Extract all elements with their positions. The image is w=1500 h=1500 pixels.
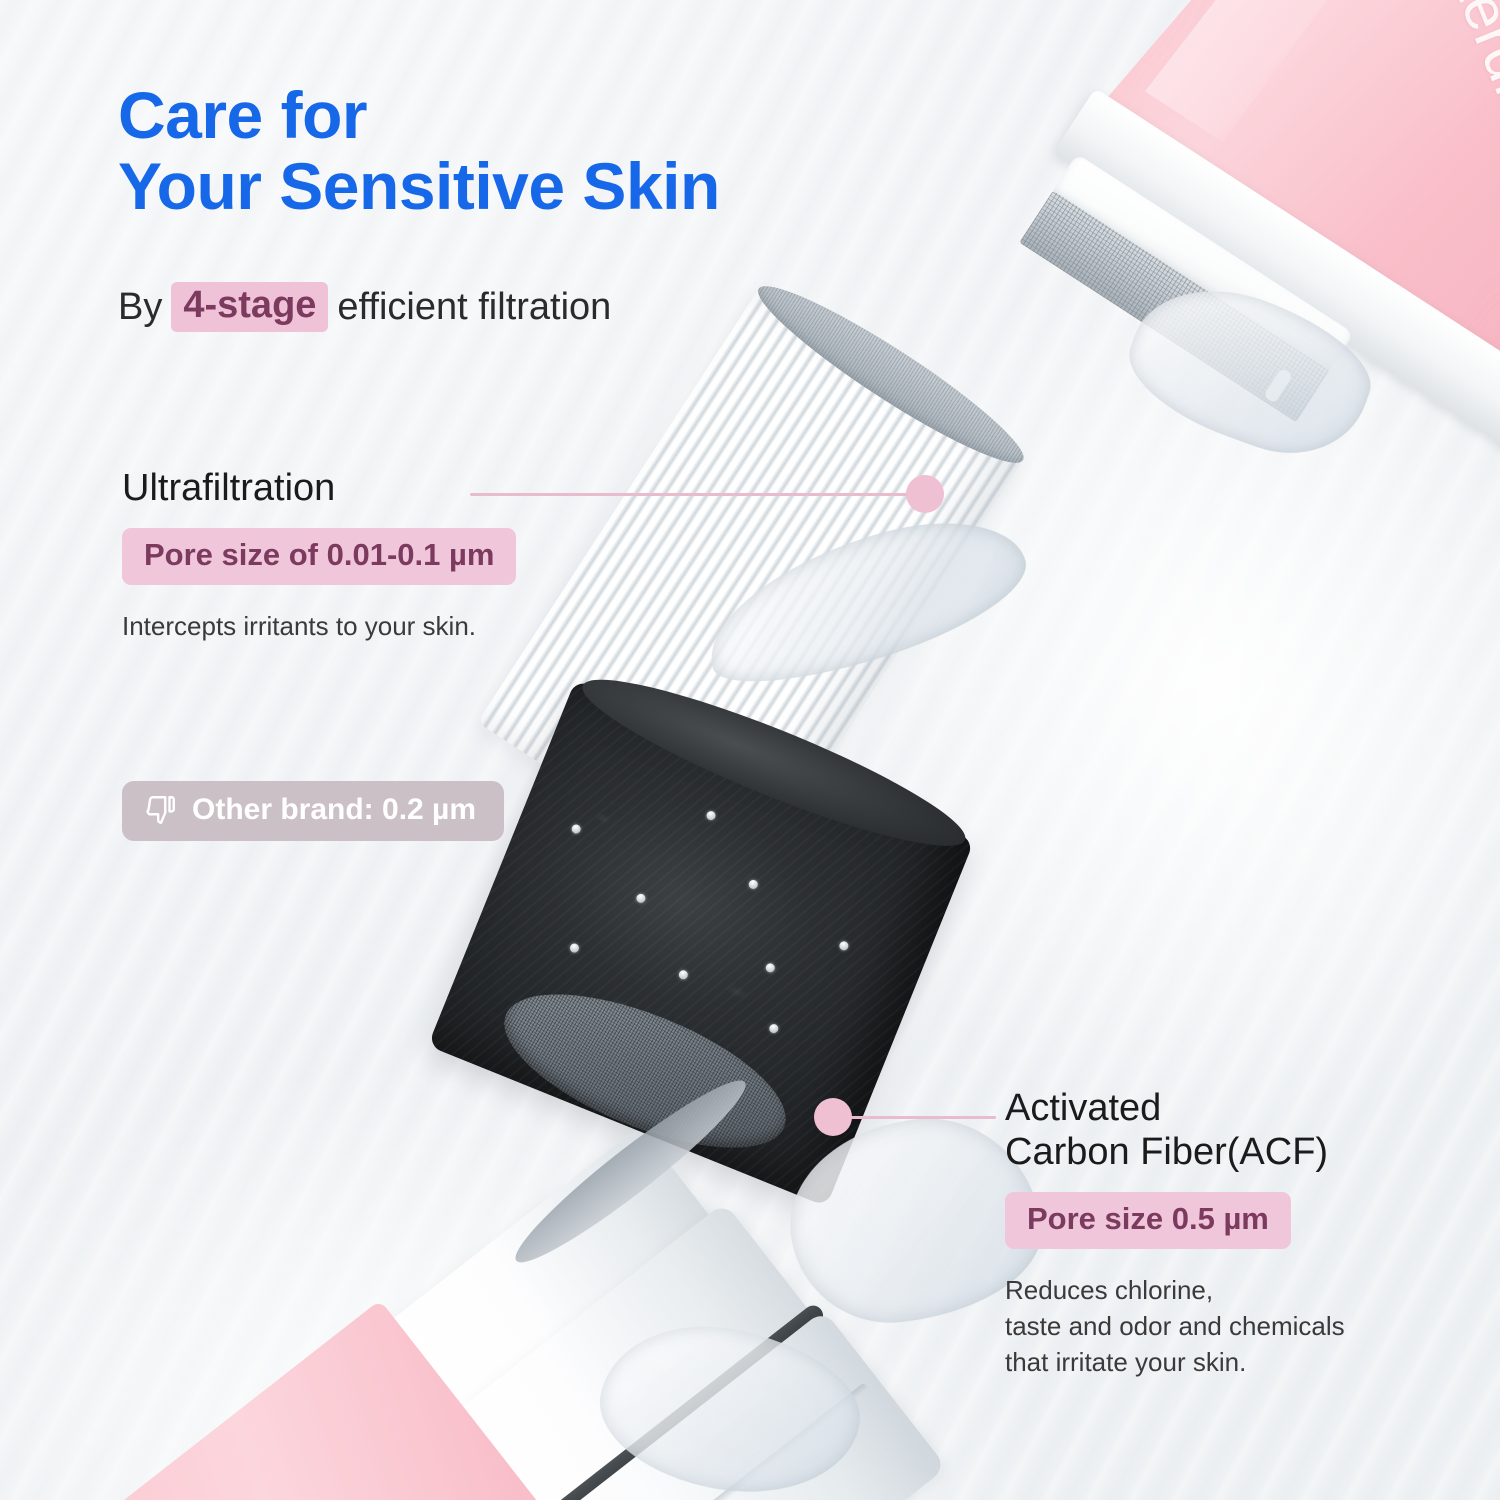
thumbs-down-icon	[144, 793, 178, 827]
page-subtitle: By 4-stage efficient filtration	[118, 282, 611, 332]
subtitle-prefix: By	[118, 286, 162, 329]
callout-activated-carbon-fiber: Activated Carbon Fiber(ACF) Pore size 0.…	[1005, 1086, 1465, 1381]
connector-dot-acf	[814, 1098, 852, 1136]
callout-description-ultrafiltration: Intercepts irritants to your skin.	[122, 609, 742, 645]
connector-dot-ultrafiltration	[906, 475, 944, 513]
badge-pore-size-ultrafiltration: Pore size of 0.01-0.1 µm	[122, 528, 516, 585]
infographic-page: Waterdrp	[0, 0, 1500, 1500]
subtitle-suffix: efficient filtration	[337, 286, 611, 329]
callout-description-acf: Reduces chlorine, taste and odor and che…	[1005, 1273, 1465, 1381]
badge-pore-size-acf: Pore size 0.5 µm	[1005, 1192, 1291, 1249]
subtitle-highlight: 4-stage	[171, 282, 328, 332]
callout-title-acf: Activated Carbon Fiber(ACF)	[1005, 1086, 1465, 1174]
badge-other-brand-label: Other brand: 0.2 µm	[192, 793, 476, 827]
page-title: Care for Your Sensitive Skin	[118, 80, 720, 223]
callout-ultrafiltration: Ultrafiltration Pore size of 0.01-0.1 µm…	[122, 466, 742, 645]
badge-other-brand: Other brand: 0.2 µm	[122, 781, 504, 841]
callout-title-ultrafiltration: Ultrafiltration	[122, 466, 742, 510]
connector-line-acf	[846, 1116, 996, 1119]
